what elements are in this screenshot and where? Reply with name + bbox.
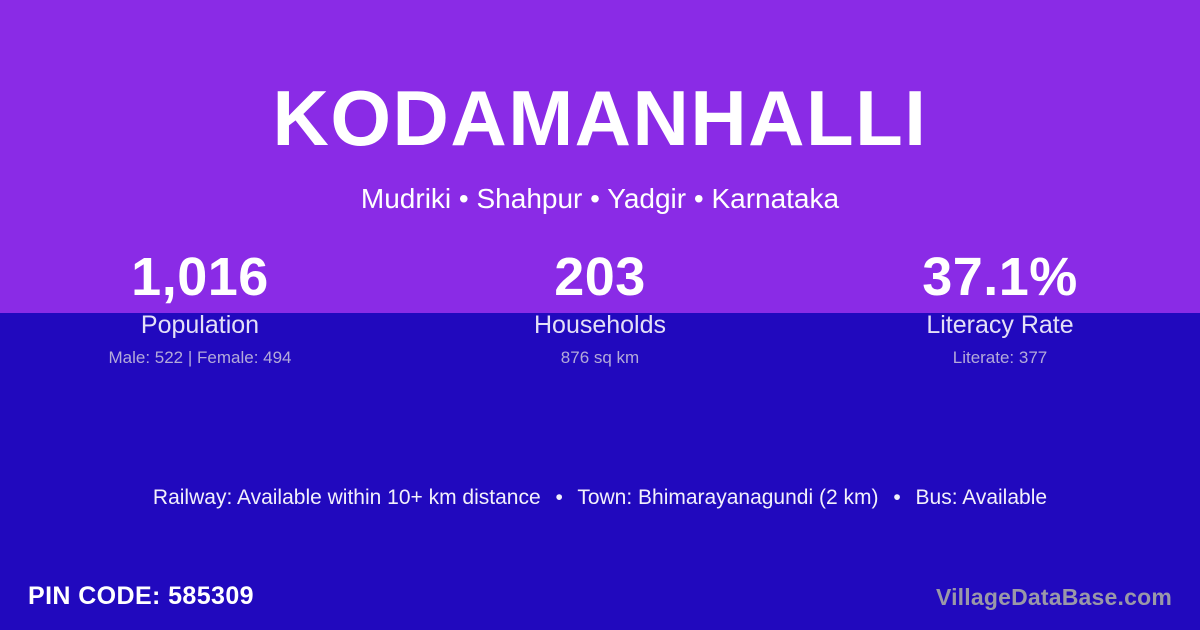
amenity-town: Town: Bhimarayanagundi (2 km) [577, 486, 878, 509]
stat-value-households: 203 [400, 248, 800, 306]
amenity-separator-1: • [547, 486, 572, 509]
amenity-bus: Bus: Available [916, 486, 1048, 509]
site-brand: VillageDataBase.com [936, 582, 1172, 612]
pin-code: PIN CODE: 585309 [28, 581, 254, 611]
page-title: KODAMANHALLI [0, 80, 1200, 156]
amenity-railway: Railway: Available within 10+ km distanc… [153, 486, 541, 509]
stat-sub-households: 876 sq km [400, 347, 800, 368]
footer-bar: PIN CODE: 585309 VillageDataBase.com [0, 568, 1200, 630]
amenities-line: Railway: Available within 10+ km distanc… [0, 484, 1200, 512]
stat-population: 1,016 Population Male: 522 | Female: 494 [0, 248, 400, 388]
amenity-separator-2: • [884, 486, 909, 509]
stat-sub-literacy-rate: Literate: 377 [800, 347, 1200, 368]
stat-label-households: Households [400, 310, 800, 340]
stat-households: 203 Households 876 sq km [400, 248, 800, 388]
stats-row: 1,016 Population Male: 522 | Female: 494… [0, 248, 1200, 388]
breadcrumb: Mudriki • Shahpur • Yadgir • Karnataka [0, 182, 1200, 216]
stat-label-population: Population [0, 310, 400, 340]
village-info-card: KODAMANHALLI Mudriki • Shahpur • Yadgir … [0, 0, 1200, 630]
stat-sub-population: Male: 522 | Female: 494 [0, 347, 400, 368]
stat-literacy-rate: 37.1% Literacy Rate Literate: 377 [800, 248, 1200, 388]
stat-value-literacy-rate: 37.1% [800, 248, 1200, 306]
stat-value-population: 1,016 [0, 248, 400, 306]
stat-label-literacy-rate: Literacy Rate [800, 310, 1200, 340]
